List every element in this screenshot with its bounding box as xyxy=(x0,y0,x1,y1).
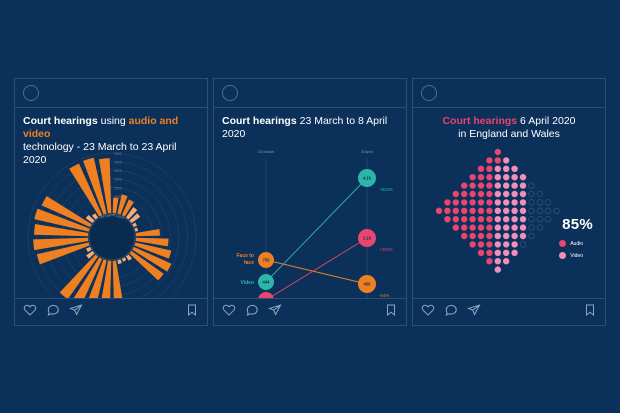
slope-chart: 23 March8 April 7504504444.1k2531.1k Fac… xyxy=(214,132,406,298)
dot-video xyxy=(520,208,526,214)
avatar xyxy=(23,85,39,101)
dot-empty xyxy=(545,216,551,222)
dot-audio xyxy=(461,216,467,222)
legend-label-audio: Audio xyxy=(570,241,583,247)
dot-audio xyxy=(469,199,475,205)
dot-empty xyxy=(537,225,543,231)
dot-video xyxy=(520,174,526,180)
dot-audio xyxy=(469,208,475,214)
dot-audio xyxy=(486,258,492,264)
bookmark-icon[interactable] xyxy=(583,303,597,322)
card-actions-left xyxy=(23,303,83,322)
dot-audio xyxy=(486,233,492,239)
slope-series-lines xyxy=(266,178,367,298)
dot-audio xyxy=(478,191,484,197)
slope-line xyxy=(266,178,367,282)
slope-line xyxy=(266,260,367,284)
dot-video xyxy=(520,233,526,239)
card-actions xyxy=(413,298,605,325)
dot-video xyxy=(503,208,509,214)
dot-video xyxy=(495,208,501,214)
dot-audio xyxy=(478,199,484,205)
dot-video xyxy=(503,157,509,163)
dot-video xyxy=(511,182,517,188)
dot-audio xyxy=(478,216,484,222)
share-icon[interactable] xyxy=(268,303,282,322)
card-body: Court hearings using audio and video tec… xyxy=(15,108,207,298)
dot-audio xyxy=(461,199,467,205)
dot-audio xyxy=(478,241,484,247)
dot-audio xyxy=(469,233,475,239)
dot-video xyxy=(511,224,517,230)
dot-audio xyxy=(478,182,484,188)
dot-video xyxy=(495,199,501,205)
dot-audio xyxy=(461,182,467,188)
dot-video xyxy=(520,216,526,222)
radial-bar-segment xyxy=(86,247,92,252)
radial-bar-segment xyxy=(117,259,122,264)
slope-change-label: +320% xyxy=(379,247,393,252)
dot-audio xyxy=(461,208,467,214)
comment-icon[interactable] xyxy=(444,303,458,322)
radial-bar-segment xyxy=(134,228,138,232)
dot-video xyxy=(520,224,526,230)
dot-audio xyxy=(469,182,475,188)
slope-chart-svg: 23 March8 April 7504504444.1k2531.1k Fac… xyxy=(214,132,406,298)
dot-video xyxy=(503,166,509,172)
card-header xyxy=(214,79,406,108)
bookmark-icon[interactable] xyxy=(384,303,398,322)
slope-series-name: Video xyxy=(240,280,254,286)
dot-empty xyxy=(545,208,551,214)
dot-audio xyxy=(436,208,442,214)
dot-empty xyxy=(537,208,543,214)
dot-video xyxy=(495,224,501,230)
dot-video xyxy=(511,199,517,205)
radial-tick-label: 2000 xyxy=(115,178,122,182)
radial-tick-label: 2500 xyxy=(115,169,122,173)
slope-series-name: face xyxy=(244,260,254,266)
radial-bar-segment xyxy=(136,229,160,236)
slope-change-labels: -54%+923%+320% xyxy=(379,187,393,298)
dot-empty xyxy=(537,191,543,197)
legend-swatch-video xyxy=(559,252,566,259)
post-card-radial[interactable]: Court hearings using audio and video tec… xyxy=(14,78,208,326)
dot-video xyxy=(503,182,509,188)
dot-video xyxy=(503,224,509,230)
dot-video xyxy=(511,166,517,172)
dot-audio xyxy=(469,241,475,247)
dot-video xyxy=(503,174,509,180)
card-actions-right xyxy=(583,303,597,322)
slope-change-label: -54% xyxy=(379,293,389,298)
slope-node-value: 1.1k xyxy=(363,236,372,241)
dot-audio xyxy=(444,216,450,222)
dot-video xyxy=(520,191,526,197)
dot-audio xyxy=(478,233,484,239)
dot-audio xyxy=(486,182,492,188)
comment-icon[interactable] xyxy=(245,303,259,322)
dot-audio xyxy=(444,208,450,214)
dot-audio xyxy=(469,224,475,230)
dot-video xyxy=(511,216,517,222)
share-icon[interactable] xyxy=(69,303,83,322)
slope-change-label: +923% xyxy=(379,187,393,192)
dot-audio xyxy=(478,224,484,230)
dot-empty xyxy=(529,191,535,197)
dot-audio xyxy=(453,216,459,222)
dot-empty xyxy=(529,183,535,189)
card-gallery: Court hearings using audio and video tec… xyxy=(14,78,606,328)
dot-video xyxy=(503,191,509,197)
heart-icon[interactable] xyxy=(23,303,37,322)
dot-audio xyxy=(461,224,467,230)
dot-audio xyxy=(461,191,467,197)
dot-audio xyxy=(478,250,484,256)
dot-video xyxy=(503,258,509,264)
dot-empty xyxy=(529,200,535,206)
dot-empty xyxy=(520,242,526,248)
slope-axis-labels: 23 March8 April xyxy=(258,149,373,154)
comment-icon[interactable] xyxy=(46,303,60,322)
dot-audio xyxy=(453,224,459,230)
dot-empty xyxy=(529,225,535,231)
card-actions xyxy=(214,298,406,325)
legend-item-audio: Audio xyxy=(559,240,583,247)
radial-bar-segment xyxy=(132,222,137,227)
bookmark-icon[interactable] xyxy=(185,303,199,322)
dot-matrix-chart: 85% Audio Video xyxy=(413,138,605,298)
dot-empty xyxy=(529,216,535,222)
card-actions-right xyxy=(185,303,199,322)
dot-video xyxy=(503,250,509,256)
dot-audio xyxy=(486,250,492,256)
dot-audio xyxy=(453,208,459,214)
dot-empty xyxy=(554,208,560,214)
dot-empty xyxy=(529,233,535,239)
dot-audio xyxy=(486,216,492,222)
dot-audio xyxy=(486,199,492,205)
dot-video xyxy=(495,166,501,172)
title-mid: using xyxy=(98,115,129,127)
dot-audio xyxy=(486,157,492,163)
radial-tick-label: 3000 xyxy=(115,161,122,165)
card-body: Court hearings 23 March to 8 April 2020 … xyxy=(214,108,406,298)
heart-icon[interactable] xyxy=(421,303,435,322)
dot-video xyxy=(511,250,517,256)
dot-empty xyxy=(529,208,535,214)
avatar xyxy=(222,85,238,101)
dot-video xyxy=(511,191,517,197)
title-bold: Court hearings xyxy=(23,115,98,127)
slope-line xyxy=(266,238,367,298)
dot-audio xyxy=(495,157,501,163)
post-card-slope[interactable]: Court hearings 23 March to 8 April 2020 … xyxy=(213,78,407,326)
slope-series-nodes: 7504504444.1k2531.1k xyxy=(258,169,376,298)
dot-audio xyxy=(486,224,492,230)
slope-node-value: 750 xyxy=(263,258,271,263)
radial-bar-segment xyxy=(113,261,123,298)
dot-audio xyxy=(486,241,492,247)
legend-swatch-audio xyxy=(559,240,566,247)
dot-video xyxy=(495,250,501,256)
card-actions-left xyxy=(222,303,282,322)
page-title: Court hearings 6 April 2020 in England a… xyxy=(413,108,605,141)
dot-video xyxy=(503,216,509,222)
card-header xyxy=(15,79,207,108)
dot-audio xyxy=(453,191,459,197)
title-bold: Court hearings xyxy=(222,115,297,127)
slope-node-value: 4.1k xyxy=(363,176,372,181)
slope-node-value: 444 xyxy=(263,280,271,285)
dot-video xyxy=(495,191,501,197)
title-mid: 6 April 2020 xyxy=(517,115,575,127)
dot-audio xyxy=(444,199,450,205)
dot-video xyxy=(495,266,501,272)
slope-axis-label: 8 April xyxy=(361,149,372,154)
dot-audio xyxy=(486,191,492,197)
dot-audio xyxy=(478,208,484,214)
dot-video xyxy=(503,233,509,239)
card-actions xyxy=(15,298,207,325)
dot-video xyxy=(495,258,501,264)
dot-video xyxy=(495,174,501,180)
radial-bar-segment xyxy=(126,254,132,260)
card-body: Court hearings 6 April 2020 in England a… xyxy=(413,108,605,298)
avatar xyxy=(421,85,437,101)
slope-axis-label: 23 March xyxy=(258,149,275,154)
heart-icon[interactable] xyxy=(222,303,236,322)
dot-video xyxy=(520,199,526,205)
dot-audio xyxy=(486,166,492,172)
card-actions-right xyxy=(384,303,398,322)
dot-video xyxy=(511,241,517,247)
dot-video xyxy=(503,241,509,247)
dot-video xyxy=(520,182,526,188)
headline-percentage: 85% xyxy=(562,216,593,233)
radial-chart-svg: 100015002000250030003500 23 March23 Apri… xyxy=(15,142,207,298)
card-actions-left xyxy=(421,303,481,322)
legend-item-video: Video xyxy=(559,252,583,259)
dot-video xyxy=(495,241,501,247)
dot-audio xyxy=(486,174,492,180)
dot-audio xyxy=(469,174,475,180)
post-card-dotmatrix[interactable]: Court hearings 6 April 2020 in England a… xyxy=(412,78,606,326)
radial-tick-labels: 100015002000250030003500 xyxy=(115,152,122,199)
page-root: Court hearings using audio and video tec… xyxy=(0,0,620,413)
title-accent: Court hearings xyxy=(442,115,517,127)
slope-series-names: Face tofaceVideoAudio xyxy=(236,253,254,298)
slope-series-name: Face to xyxy=(236,253,254,259)
dot-empty xyxy=(537,200,543,206)
dot-audio xyxy=(469,191,475,197)
dot-audio xyxy=(478,174,484,180)
dot-audio xyxy=(486,208,492,214)
radial-bar-chart: 100015002000250030003500 23 March23 Apri… xyxy=(15,142,207,298)
legend-label-video: Video xyxy=(570,253,583,259)
dot-audio xyxy=(453,199,459,205)
radial-bar-segment xyxy=(92,213,98,219)
dot-audio xyxy=(478,166,484,172)
dot-video xyxy=(503,199,509,205)
dot-video xyxy=(511,208,517,214)
radial-tick-label: 3500 xyxy=(115,152,122,156)
dot-audio xyxy=(461,233,467,239)
dot-matrix-dots xyxy=(436,149,560,273)
slope-axis-lines xyxy=(266,158,367,298)
dot-video xyxy=(511,174,517,180)
slope-node-value: 450 xyxy=(364,282,372,287)
dot-video xyxy=(495,182,501,188)
dot-video xyxy=(495,233,501,239)
dot-video xyxy=(511,233,517,239)
dot-empty xyxy=(537,216,543,222)
radial-tick-label: 1500 xyxy=(115,186,122,190)
radial-inner-hole xyxy=(89,214,135,260)
radial-bar-segment xyxy=(113,198,119,214)
dot-empty xyxy=(545,200,551,206)
dot-audio xyxy=(469,216,475,222)
share-icon[interactable] xyxy=(467,303,481,322)
card-header xyxy=(413,79,605,108)
dot-audio xyxy=(495,149,501,155)
dot-video xyxy=(495,216,501,222)
